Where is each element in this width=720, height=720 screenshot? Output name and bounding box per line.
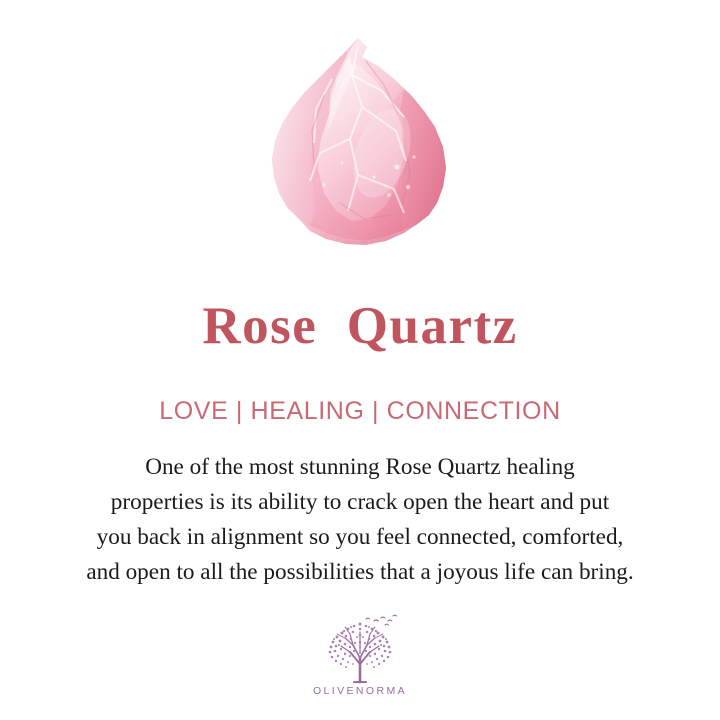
hero-image-area xyxy=(0,0,720,285)
description-line: and open to all the possibilities that a… xyxy=(14,555,706,590)
birds-icon xyxy=(366,615,397,625)
description-line: One of the most stunning Rose Quartz hea… xyxy=(14,450,706,485)
description-line: you back in alignment so you feel connec… xyxy=(14,520,706,555)
rose-quartz-crystal-image xyxy=(254,35,466,250)
brand-logo: OLIVENORMA xyxy=(0,612,720,697)
brand-wordmark: OLIVENORMA xyxy=(313,685,407,697)
description-paragraph: One of the most stunning Rose Quartz hea… xyxy=(14,450,706,590)
page-title: Rose Quartz xyxy=(0,296,720,357)
description-line: properties is its ability to crack open … xyxy=(14,485,706,520)
keyword-subtitle: LOVE | HEALING | CONNECTION xyxy=(0,396,720,426)
tree-icon xyxy=(317,612,403,684)
rose-quartz-infographic: Rose Quartz LOVE | HEALING | CONNECTION … xyxy=(0,0,720,720)
rose-quartz-crystal-icon xyxy=(254,35,466,250)
